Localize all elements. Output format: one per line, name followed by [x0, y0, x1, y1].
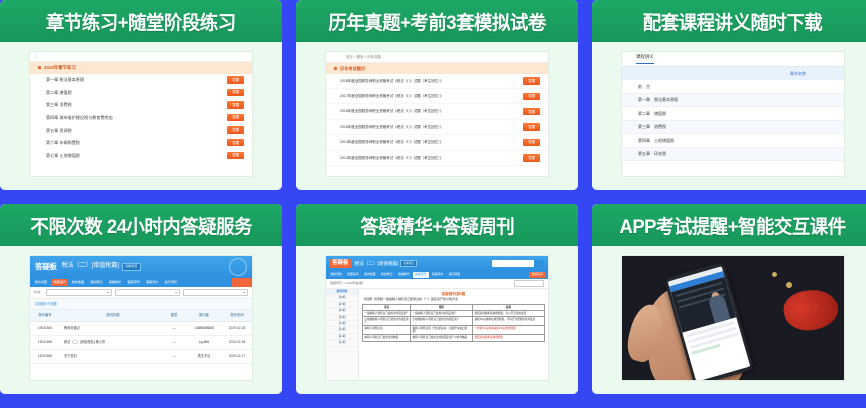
cell-user: 13888888888 [186, 326, 222, 330]
table-row[interactable]: 第二章 增值税 答题 [30, 86, 252, 99]
answer-button[interactable]: 答题 [523, 154, 540, 161]
card-title: 不限次数 24小时内答疑服务 [30, 212, 252, 239]
list-item[interactable]: 前 言 [622, 80, 844, 94]
nav-item[interactable]: 我的问题 [32, 279, 50, 286]
table-row[interactable]: 19021840 教师未通过 — 13888888888 2019-02-18 [30, 322, 252, 336]
card-header: 答疑精华+答疑周刊 [296, 204, 578, 246]
breadcrumb: 首页 > 题库 > 历年真题 [326, 52, 548, 63]
breadcrumb: 答疑周刊 > 2019年第8期 [330, 282, 363, 286]
column-header: 章节名称 [622, 67, 844, 80]
cell-no: 19021838 [30, 354, 60, 358]
cell-floor: — [162, 340, 186, 344]
answer-button[interactable]: 答题 [523, 93, 540, 100]
cell-user: Lyy888 [186, 340, 222, 344]
card-header: 配套课程讲义随时下载 [592, 0, 866, 42]
card-app-reminder[interactable]: APP考试提醒+智能交互课件 [592, 204, 866, 394]
nav-item[interactable]: 我要提问 [345, 272, 361, 278]
table-row[interactable]: 第五章 资源税 答题 [30, 124, 252, 137]
card-chapter-practice[interactable]: 章节练习+随堂阶段练习 2019年章节练习 第一章 税法基本原理 答题 第二章 … [0, 0, 282, 190]
qa-weekly-header: 答疑板 税法（二）[增值税篇] 切换科目 [326, 256, 548, 271]
nav-item[interactable]: 答疑评价 [430, 272, 446, 278]
row-label: 2018年度全国税务师职业资格考试《税法（Ⅰ）》试题（考生回忆）》 [340, 79, 443, 83]
qa-board-header: 答疑板 税法（二）[增值税篇] 切换科目 [30, 256, 252, 278]
table-row: 纳税人销售旧货 纳税人销售旧货（含旧机动车、旧摩托车和旧游艇） 一律按3%征收率… [363, 326, 545, 335]
cell-title[interactable]: 税法（二）[增值税篇]-第七章 [60, 340, 162, 344]
column-title: 提问标题 [60, 313, 162, 317]
card-header: 章节练习+随堂阶段练习 [0, 0, 282, 42]
card-title: 章节练习+随堂阶段练习 [46, 8, 236, 35]
nav-item[interactable]: 提问须知 [447, 272, 463, 278]
screenshot-chapter-practice: 2019年章节练习 第一章 税法基本原理 答题 第二章 增值税 答题 第三章 消… [30, 52, 252, 176]
table-row[interactable]: 第一章 税法基本原理 答题 [30, 74, 252, 87]
card-qa-digest[interactable]: 答疑精华+答疑周刊 答疑板 税法（二）[增值税篇] 切换科目 我的问题 我要提问… [296, 204, 578, 394]
table-row: 纳税人销售自己使用过的物品 纳税人销售自己使用过的除固定资产以外的物品 按照适用… [363, 335, 545, 341]
bokeh-dot [772, 272, 777, 277]
feature-card-grid: 章节练习+随堂阶段练习 2019年章节练习 第一章 税法基本原理 答题 第二章 … [0, 0, 866, 408]
cell-policy: 按照适用税率征收增值税 [472, 335, 544, 341]
row-label: 第六章 车辆购置税 [46, 140, 80, 145]
list-item[interactable]: 第三章 消费税 [622, 121, 844, 135]
cell-time: 2019-02-17 [222, 354, 252, 358]
nav-item[interactable]: 我的收藏 [362, 272, 378, 278]
column-time: 提问时间 [222, 313, 252, 317]
weekly-content: 答疑周刊第8期 【问题】增值税一般纳税人销售自己使用过的（一）固定资产的计税方法… [359, 289, 548, 380]
ask-question-button[interactable] [232, 278, 252, 287]
column-user: 提问者 [186, 313, 222, 317]
qa-board-subject: 税法（二）[增值税篇] [355, 261, 399, 267]
cell-title[interactable]: 教师未通过 [60, 326, 162, 330]
card-body [592, 246, 866, 394]
answer-button[interactable]: 答题 [227, 139, 244, 146]
cell-user: 表达不清 [186, 354, 222, 358]
table-row[interactable]: 第四章 城市维护建设税与教育费附加 答题 [30, 111, 252, 124]
table-row[interactable]: 2013年度全国税务师职业资格考试《税法（Ⅰ）》试题（考生回忆）》 答题 [326, 151, 548, 166]
screenshot-toolbar [30, 52, 252, 62]
answer-button[interactable]: 答题 [227, 89, 244, 96]
issue-list: 期刊列表 第8期 第7期 第6期 第5期 第4期 第3期 第2期 第1期 [326, 289, 359, 380]
card-body: 2019年章节练习 第一章 税法基本原理 答题 第二章 增值税 答题 第三章 消… [0, 42, 282, 190]
card-qa-service[interactable]: 不限次数 24小时内答疑服务 答疑板 税法（二）[增值税篇] 切换科目 我的问题… [0, 204, 282, 394]
weekly-body: 期刊列表 第8期 第7期 第6期 第5期 第4期 第3期 第2期 第1期 答疑周… [326, 289, 548, 380]
answer-button[interactable]: 答题 [227, 114, 244, 121]
card-body: 首页 > 题库 > 历年真题 历年考试题目 2018年度全国税务师职业资格考试《… [296, 42, 578, 190]
question-type-select[interactable] [115, 289, 180, 296]
card-body: 答疑板 税法（二）[增值税篇] 切换科目 我的问题 我要提问 我的收藏 我的笔记… [0, 246, 282, 394]
nav-item-active[interactable]: 答疑周刊 [413, 272, 429, 278]
list-item[interactable]: 第二章 增值税 [622, 107, 844, 121]
card-body: 答疑板 税法（二）[增值税篇] 切换科目 我的问题 我要提问 我的收藏 我的笔记… [296, 246, 578, 394]
cell-floor: — [162, 326, 186, 330]
row-label: 2014年度全国税务师职业资格考试《税法（Ⅰ）》试题（考生回忆）》 [340, 140, 443, 144]
content-title: 答疑周刊第8期 [362, 292, 545, 296]
tab-bar: 课程讲义 [622, 52, 844, 67]
row-label: 第七章 土地增值税 [46, 153, 80, 158]
qa-board-logo: 答疑板 [35, 262, 57, 271]
row-label: 第一章 税法基本原理 [46, 77, 84, 82]
table-row: 小规模纳税人销售自己使用过的固定资产 小规模纳税人销售自己使用过的固定资产 减按… [363, 316, 545, 325]
table-row[interactable]: 第六章 车辆购置税 答题 [30, 136, 252, 149]
filter-label: 状态： [34, 291, 43, 295]
cell-item: 小规模纳税人销售自己使用过的固定资产 [363, 316, 411, 325]
qa-board-subject: 税法（二）[增值税篇] [62, 263, 119, 271]
section-header: 历年考试题目 [326, 63, 548, 73]
photo-hand-holding-phone [622, 256, 844, 380]
cell-policy: 减按2%征收率征收增值税，不得开具增值税专用发票 [472, 316, 544, 325]
ribbon-decor [780, 285, 841, 335]
cell-title[interactable]: 关于抵扣 [60, 354, 162, 358]
cell-item: 纳税人销售旧货 [363, 326, 411, 335]
table-row[interactable]: 2016年度全国税务师职业资格考试《税法（Ⅰ）》试题（考生回忆）》 答题 [326, 104, 548, 119]
search-icon[interactable] [534, 260, 544, 267]
cell-no: 19021839 [30, 340, 60, 344]
qa-board-logo: 答疑板 [330, 259, 351, 267]
card-course-handouts[interactable]: 配套课程讲义随时下载 课程讲义 章节名称 前 言 第一章 税法基本原理 第二章 … [592, 0, 866, 190]
nav-item[interactable]: 答疑精华 [396, 272, 412, 278]
mascot-icon [229, 258, 247, 276]
screenshot-past-exams: 首页 > 题库 > 历年真题 历年考试题目 2018年度全国税务师职业资格考试《… [326, 52, 548, 176]
ask-type-select[interactable] [183, 289, 248, 296]
row-label: 2013年度全国税务师职业资格考试《税法（Ⅰ）》试题（考生回忆）》 [340, 156, 443, 160]
card-title: 配套课程讲义随时下载 [643, 8, 822, 35]
nav-item[interactable]: 我的问题 [328, 272, 344, 278]
filter-bar: 状态： [30, 287, 252, 299]
screenshot-qa-board: 答疑板 税法（二）[增值税篇] 切换科目 我的问题 我要提问 我的收藏 我的笔记… [30, 256, 252, 380]
list-item[interactable]: 第一章 税法基本原理 [622, 94, 844, 108]
cell-no: 19021840 [30, 326, 60, 330]
lecturer-body [708, 294, 731, 323]
nav-item-active[interactable]: 我要提问 [51, 279, 69, 286]
bokeh-dot [786, 282, 792, 288]
card-title: 历年真题+考前3套模拟试卷 [328, 8, 545, 35]
ask-question-button[interactable]: 我要提问 [529, 272, 546, 278]
section-header: 2019年章节练习 [30, 62, 252, 74]
cell-floor: — [162, 354, 186, 358]
cell-time: 2019-02-18 [222, 340, 252, 344]
year-select[interactable] [514, 280, 544, 287]
cell-item: 纳税人销售自己使用过的物品 [363, 335, 411, 341]
card-header: 历年真题+考前3套模拟试卷 [296, 0, 578, 42]
row-label: 2017年度全国税务师职业资格考试《税法（Ⅰ）》试题（考生回忆）》 [340, 94, 443, 98]
cell-time: 2019-02-18 [222, 326, 252, 330]
answer-button[interactable]: 答题 [227, 152, 244, 159]
card-past-exams[interactable]: 历年真题+考前3套模拟试卷 首页 > 题库 > 历年真题 历年考试题目 2018… [296, 0, 578, 190]
row-label: 2016年度全国税务师职业资格考试《税法（Ⅰ）》试题（考生回忆）》 [340, 109, 443, 113]
list-item[interactable]: 第四章 土地增值税 [622, 134, 844, 148]
row-label: 第四章 城市维护建设税与教育费附加 [46, 115, 113, 120]
column-floor: 楼层 [162, 313, 186, 317]
breadcrumb-bar: 答疑周刊 > 2019年第8期 [326, 279, 548, 289]
switch-subject-button[interactable]: 切换科目 [122, 263, 141, 270]
table-row[interactable]: 第三章 消费税 答题 [30, 99, 252, 112]
table-row[interactable]: 第七章 土地增值税 答题 [30, 149, 252, 162]
answer-button[interactable]: 答题 [227, 126, 244, 133]
nav-item[interactable]: 我的收藏 [69, 279, 87, 286]
table-row[interactable]: 19021838 关于抵扣 — 表达不清 2019-02-17 [30, 350, 252, 364]
content-table: 项目 情形 政策 一般纳税人销售自己使用过的固定资产 一般纳税人销售自己使用过的… [362, 304, 545, 342]
issue-item[interactable]: 第1期 [326, 340, 358, 346]
answer-button[interactable]: 答题 [523, 139, 540, 146]
card-title: 答疑精华+答疑周刊 [360, 212, 514, 239]
cell-policy: 一律按3%征收率减按2%征收增值税 [472, 326, 544, 335]
answer-button[interactable]: 答题 [227, 101, 244, 108]
list-item[interactable]: 第五章 印花税 [622, 148, 844, 162]
card-header: 不限次数 24小时内答疑服务 [0, 204, 282, 246]
nav-item[interactable]: 答疑周刊 [125, 279, 143, 286]
screenshot-qa-weekly: 答疑板 税法（二）[增值税篇] 切换科目 我的问题 我要提问 我的收藏 我的笔记… [326, 256, 548, 380]
answer-button[interactable]: 答题 [523, 77, 540, 84]
table-header-row: 提问编号 提问标题 楼层 提问者 提问时间 [30, 310, 252, 322]
column-no: 提问编号 [30, 313, 60, 317]
cell-case: 纳税人销售旧货（含旧机动车、旧摩托车和旧游艇） [411, 326, 473, 335]
chapter-select[interactable] [46, 289, 111, 296]
qa-nav-bar: 我的问题 我要提问 我的收藏 我的笔记 答疑精华 答疑周刊 答疑评价 提问须知 [30, 278, 252, 287]
screenshot-course-handouts: 课程讲义 章节名称 前 言 第一章 税法基本原理 第二章 增值税 第三章 消费税… [622, 52, 844, 176]
nav-item[interactable]: 我的笔记 [88, 279, 106, 286]
content-paragraph: 【问题】增值税一般纳税人销售自己使用过的（一）固定资产的计税方法 [362, 298, 545, 302]
nav-item[interactable]: 答疑精华 [106, 279, 124, 286]
row-label: 第五章 资源税 [46, 128, 72, 133]
row-label: 第三章 消费税 [46, 102, 72, 107]
answer-button[interactable]: 答题 [523, 123, 540, 130]
cell-case: 纳税人销售自己使用过的除固定资产以外的物品 [411, 335, 473, 341]
nav-item[interactable]: 我的笔记 [379, 272, 395, 278]
switch-subject-button[interactable]: 切换科目 [400, 260, 416, 266]
answer-button[interactable]: 答题 [523, 108, 540, 115]
table-row[interactable]: 19021839 税法（二）[增值税篇]-第七章 — Lyy888 2019-0… [30, 336, 252, 350]
card-body: 课程讲义 章节名称 前 言 第一章 税法基本原理 第二章 增值税 第三章 消费税… [592, 42, 866, 190]
nav-item[interactable]: 答疑评价 [143, 279, 161, 286]
qa-nav-bar: 我的问题 我要提问 我的收藏 我的笔记 答疑精华 答疑周刊 答疑评价 提问须知 … [326, 271, 548, 279]
nav-item[interactable]: 提问须知 [162, 279, 180, 286]
row-label: 第二章 增值税 [46, 90, 72, 95]
answer-button[interactable]: 答题 [227, 76, 244, 83]
search-input[interactable] [492, 260, 544, 267]
tab-course-handouts[interactable]: 课程讲义 [636, 54, 654, 64]
table-row[interactable]: 2018年度全国税务师职业资格考试《税法（Ⅰ）》试题（考生回忆）》 答题 [326, 74, 548, 89]
result-count: 共找到5个问题 [30, 299, 252, 310]
cell-case: 小规模纳税人销售自己使用过的固定资产 [411, 316, 473, 325]
table-row[interactable]: 2017年度全国税务师职业资格考试《税法（Ⅰ）》试题（考生回忆）》 答题 [326, 89, 548, 104]
table-row[interactable]: 2014年度全国税务师职业资格考试《税法（Ⅰ）》试题（考生回忆）》 答题 [326, 135, 548, 150]
row-label: 2015年度全国税务师职业资格考试《税法（Ⅰ）》试题（考生回忆）》 [340, 125, 443, 129]
card-header: APP考试提醒+智能交互课件 [592, 204, 866, 246]
card-title: APP考试提醒+智能交互课件 [620, 212, 846, 239]
table-row[interactable]: 2015年度全国税务师职业资格考试《税法（Ⅰ）》试题（考生回忆）》 答题 [326, 120, 548, 135]
